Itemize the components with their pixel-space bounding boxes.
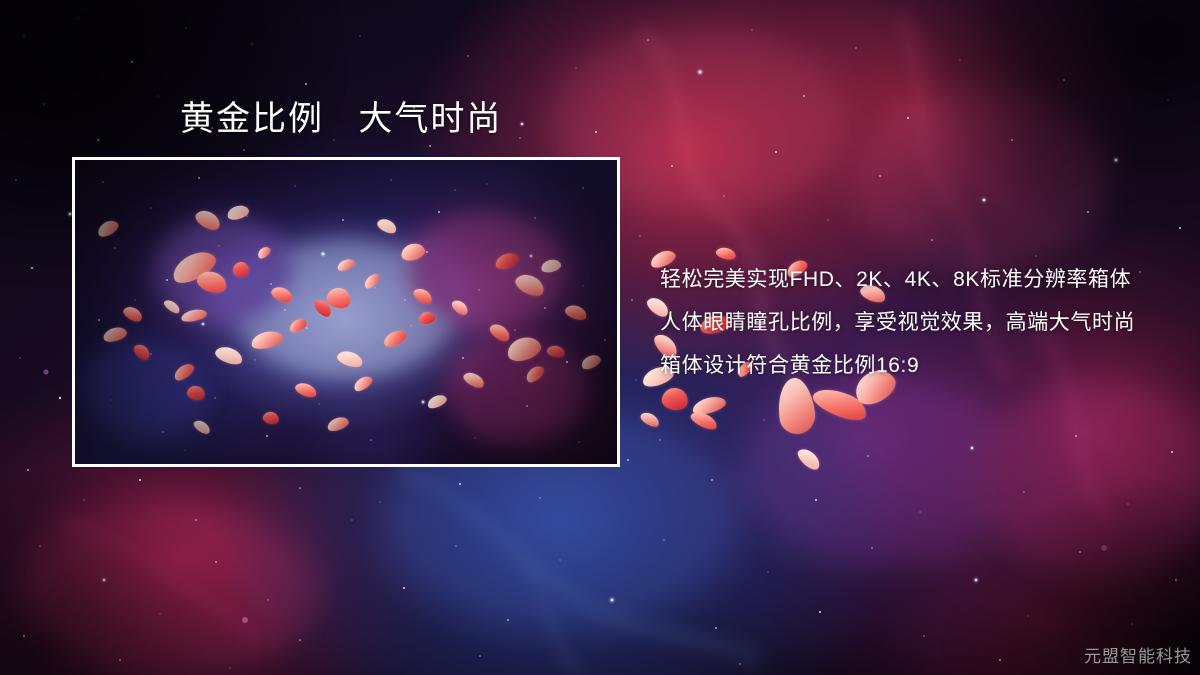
presentation-slide: 黄金比例 大气时尚 bbox=[0, 0, 1200, 675]
body-text-block: 轻松完美实现FHD、2K、4K、8K标准分辨率箱体 人体眼睛瞳孔比例，享受视觉效… bbox=[660, 258, 1160, 387]
body-line: 轻松完美实现FHD、2K、4K、8K标准分辨率箱体 bbox=[660, 258, 1160, 301]
body-line: 箱体设计符合黄金比例16:9 bbox=[660, 344, 1160, 387]
body-line: 人体眼睛瞳孔比例，享受视觉效果，高端大气时尚 bbox=[660, 301, 1160, 344]
framed-photo bbox=[72, 157, 620, 467]
watermark: 元盟智能科技 bbox=[1084, 642, 1192, 667]
page-title: 黄金比例 大气时尚 bbox=[180, 100, 502, 139]
